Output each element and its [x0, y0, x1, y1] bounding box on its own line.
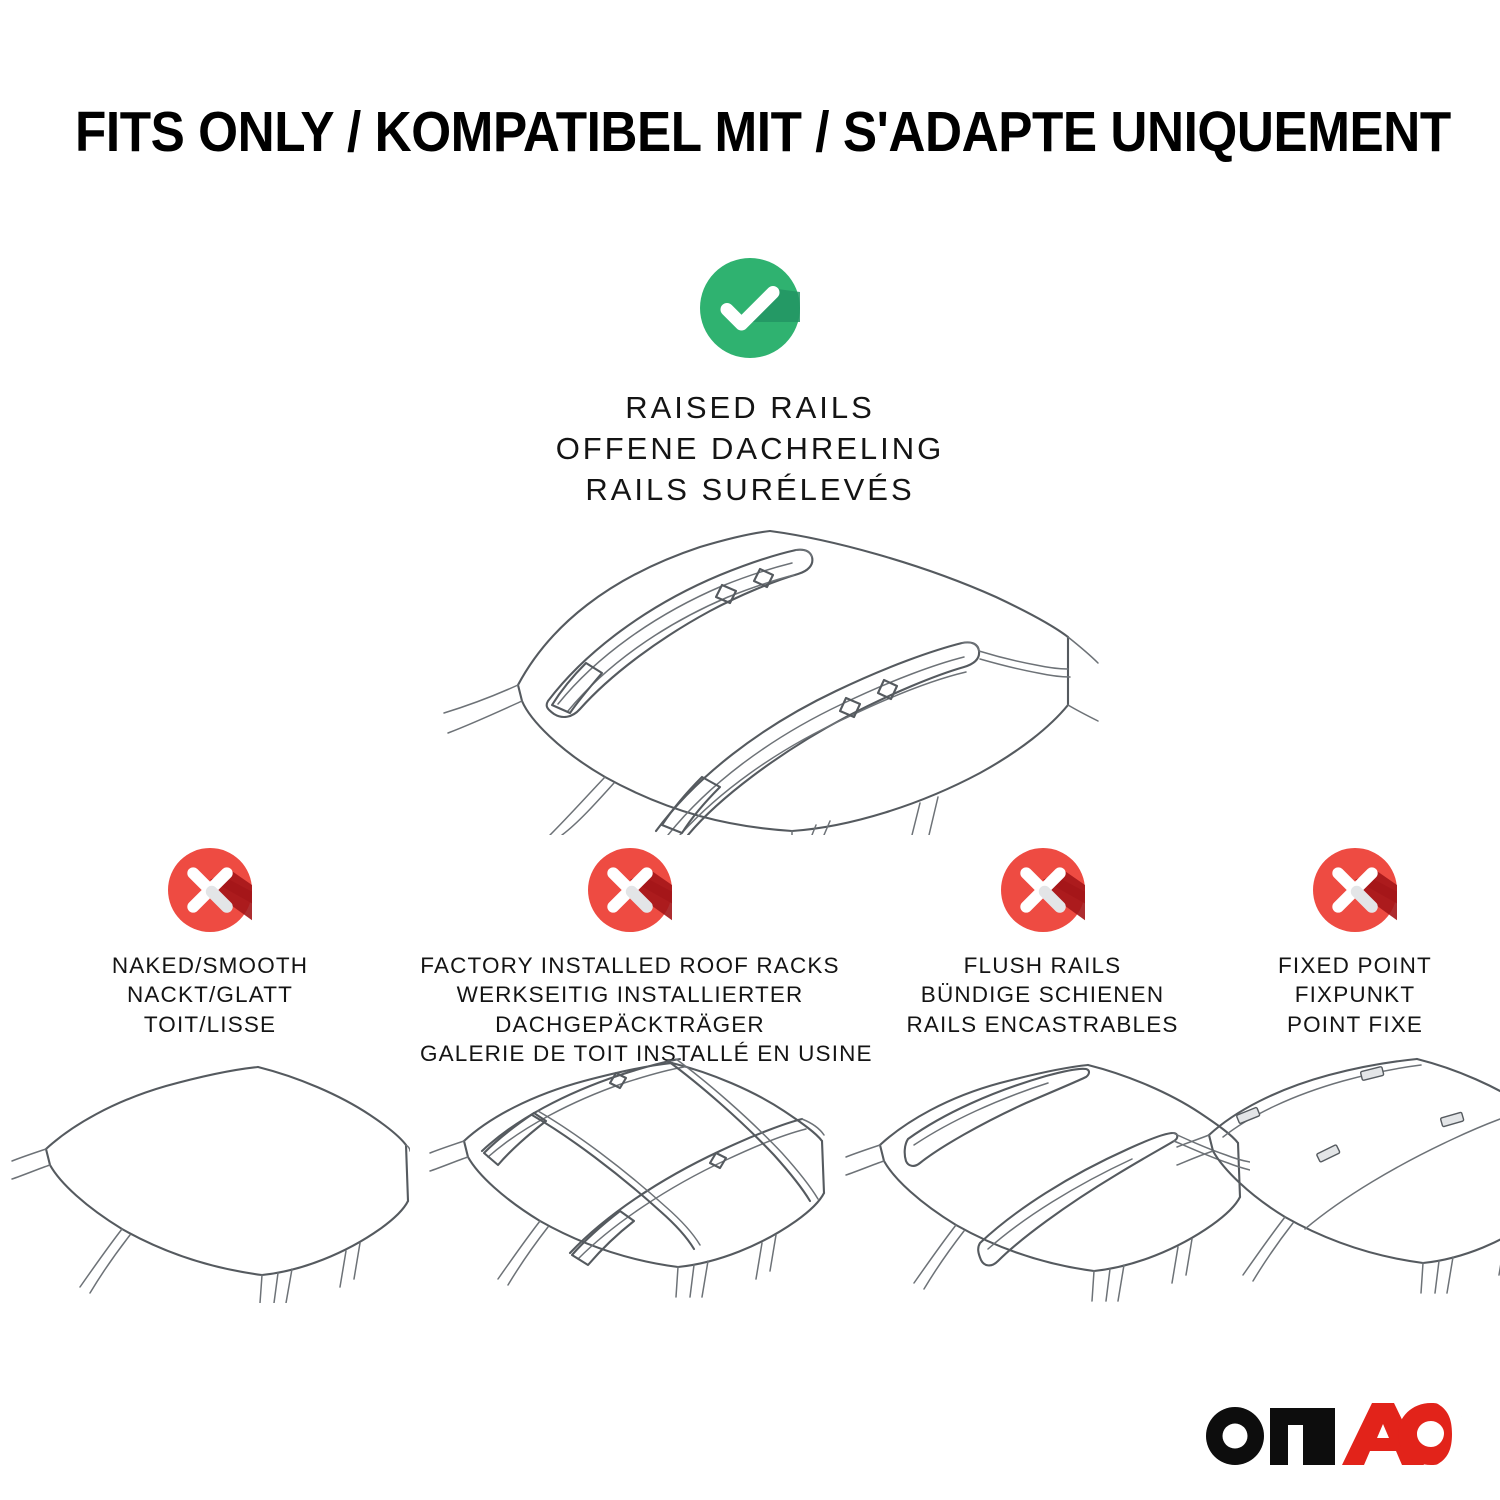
car-roof-fixed-point-drawing	[1175, 1053, 1500, 1303]
page-title: FITS ONLY / KOMPATIBEL MIT / S'ADAPTE UN…	[75, 104, 1425, 161]
incompatible-item-naked-smooth: NAKED/SMOOTH NACKT/GLATT TOIT/LISSE	[10, 848, 410, 1039]
compatible-label-line-1: RAISED RAILS	[0, 387, 1500, 428]
incompatible-label-line-1: FLUSH RAILS	[855, 951, 1230, 980]
x-circle-icon	[1001, 848, 1085, 932]
incompatible-label-line-2: FIXPUNKT	[1225, 980, 1485, 1009]
incompatible-label: NAKED/SMOOTH NACKT/GLATT TOIT/LISSE	[10, 951, 410, 1039]
compatible-label: RAISED RAILS OFFENE DACHRELING RAILS SUR…	[0, 387, 1500, 511]
incompatible-label-line-3: POINT FIXE	[1225, 1010, 1485, 1039]
logo-letter-o	[1206, 1407, 1264, 1465]
fitment-infographic: FITS ONLY / KOMPATIBEL MIT / S'ADAPTE UN…	[0, 0, 1500, 1500]
incompatible-label-line-1: FACTORY INSTALLED ROOF RACKS	[420, 951, 840, 980]
incompatible-label: FIXED POINT FIXPUNKT POINT FIXE	[1225, 951, 1485, 1039]
car-roof-naked-drawing	[10, 1053, 410, 1303]
compatible-block: RAISED RAILS OFFENE DACHRELING RAILS SUR…	[0, 258, 1500, 511]
incompatible-label: FACTORY INSTALLED ROOF RACKS WERKSEITIG …	[420, 951, 840, 1068]
check-circle-icon	[700, 258, 800, 358]
incompatible-label-line-3: DACHGEPÄCKTRÄGER	[420, 1010, 840, 1039]
logo-letter-c	[1398, 1403, 1462, 1465]
omac-logo	[1204, 1403, 1462, 1465]
car-roof-factory-racks-drawing	[420, 1053, 840, 1303]
incompatible-label: FLUSH RAILS BÜNDIGE SCHIENEN RAILS ENCAS…	[855, 951, 1230, 1039]
incompatible-label-line-3: TOIT/LISSE	[10, 1010, 410, 1039]
incompatible-item-fixed-point: FIXED POINT FIXPUNKT POINT FIXE	[1225, 848, 1485, 1039]
incompatible-label-line-2: NACKT/GLATT	[10, 980, 410, 1009]
incompatible-label-line-3: RAILS ENCASTRABLES	[855, 1010, 1230, 1039]
x-circle-icon	[588, 848, 672, 932]
x-circle-icon	[1313, 848, 1397, 932]
incompatible-item-factory-racks: FACTORY INSTALLED ROOF RACKS WERKSEITIG …	[420, 848, 840, 1068]
incompatible-label-line-1: NAKED/SMOOTH	[10, 951, 410, 980]
incompatible-label-line-1: FIXED POINT	[1225, 951, 1485, 980]
incompatible-label-line-2: WERKSEITIG INSTALLIERTER	[420, 980, 840, 1009]
incompatible-row: NAKED/SMOOTH NACKT/GLATT TOIT/LISSE	[0, 848, 1500, 1498]
x-circle-icon	[168, 848, 252, 932]
logo-letter-m	[1270, 1408, 1335, 1465]
compatible-label-line-2: OFFENE DACHRELING	[0, 428, 1500, 469]
car-roof-raised-rails-drawing	[400, 505, 1100, 835]
incompatible-label-line-2: BÜNDIGE SCHIENEN	[855, 980, 1230, 1009]
incompatible-item-flush-rails: FLUSH RAILS BÜNDIGE SCHIENEN RAILS ENCAS…	[855, 848, 1230, 1039]
